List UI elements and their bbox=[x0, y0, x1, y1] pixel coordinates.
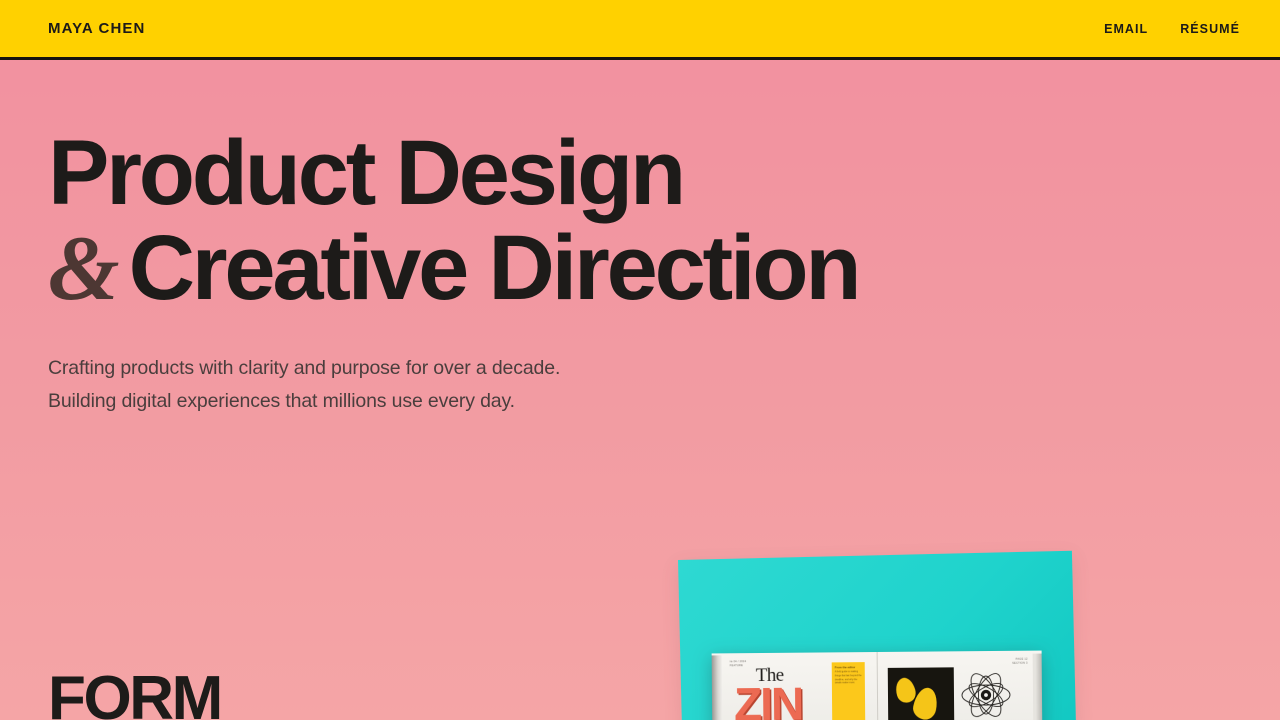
hero-headline-line-1: Product Design bbox=[48, 128, 1048, 219]
portfolio-landing-page: MAYA CHEN EMAIL RÉSUMÉ Product Design &C… bbox=[0, 0, 1280, 720]
callout-body: A field guide to making things that last… bbox=[835, 671, 862, 686]
open-magazine-image: № 04 / 2024 FEATURE The ZIN From the edi… bbox=[712, 651, 1043, 720]
hero-headline-line-2-text: Creative Direction bbox=[129, 217, 859, 319]
callout-heading: From the editor bbox=[835, 665, 862, 669]
primary-navigation: EMAIL RÉSUMÉ bbox=[1104, 22, 1240, 36]
left-page-yellow-callout: From the editor A field guide to making … bbox=[832, 662, 866, 720]
right-page-folio: PAGE 12 SECTION 3 bbox=[1012, 658, 1028, 666]
magazine-left-page: № 04 / 2024 FEATURE The ZIN From the edi… bbox=[712, 652, 879, 720]
brand-logo[interactable]: MAYA CHEN bbox=[48, 20, 145, 37]
magazine-spine bbox=[712, 655, 723, 720]
left-page-display-word: ZIN bbox=[734, 681, 803, 720]
magazine-page-edge bbox=[1033, 654, 1043, 720]
magazine-photo-block: № 04 / 2024 FEATURE The ZIN From the edi… bbox=[672, 556, 1092, 720]
right-page-black-panel bbox=[888, 667, 955, 720]
hero-section: Product Design &Creative Direction Craft… bbox=[48, 128, 1048, 417]
atom-diagram-icon bbox=[960, 669, 1012, 720]
site-header: MAYA CHEN EMAIL RÉSUMÉ bbox=[0, 0, 1280, 60]
section-heading-form: FORM bbox=[48, 668, 221, 720]
nav-link-resume[interactable]: RÉSUMÉ bbox=[1180, 22, 1240, 36]
hero-headline-line-2: &Creative Direction bbox=[48, 223, 1048, 314]
nav-link-email[interactable]: EMAIL bbox=[1104, 22, 1148, 36]
magazine-right-page: PAGE 12 SECTION 3 bbox=[878, 651, 1043, 720]
left-page-kicker: № 04 / 2024 FEATURE bbox=[730, 660, 747, 668]
hero-subtitle-line-1: Crafting products with clarity and purpo… bbox=[48, 352, 1048, 384]
hero-subtitle-line-2: Building digital experiences that millio… bbox=[48, 385, 1048, 417]
ampersand-glyph: & bbox=[48, 217, 129, 319]
hero-subtitle: Crafting products with clarity and purpo… bbox=[48, 352, 1048, 417]
